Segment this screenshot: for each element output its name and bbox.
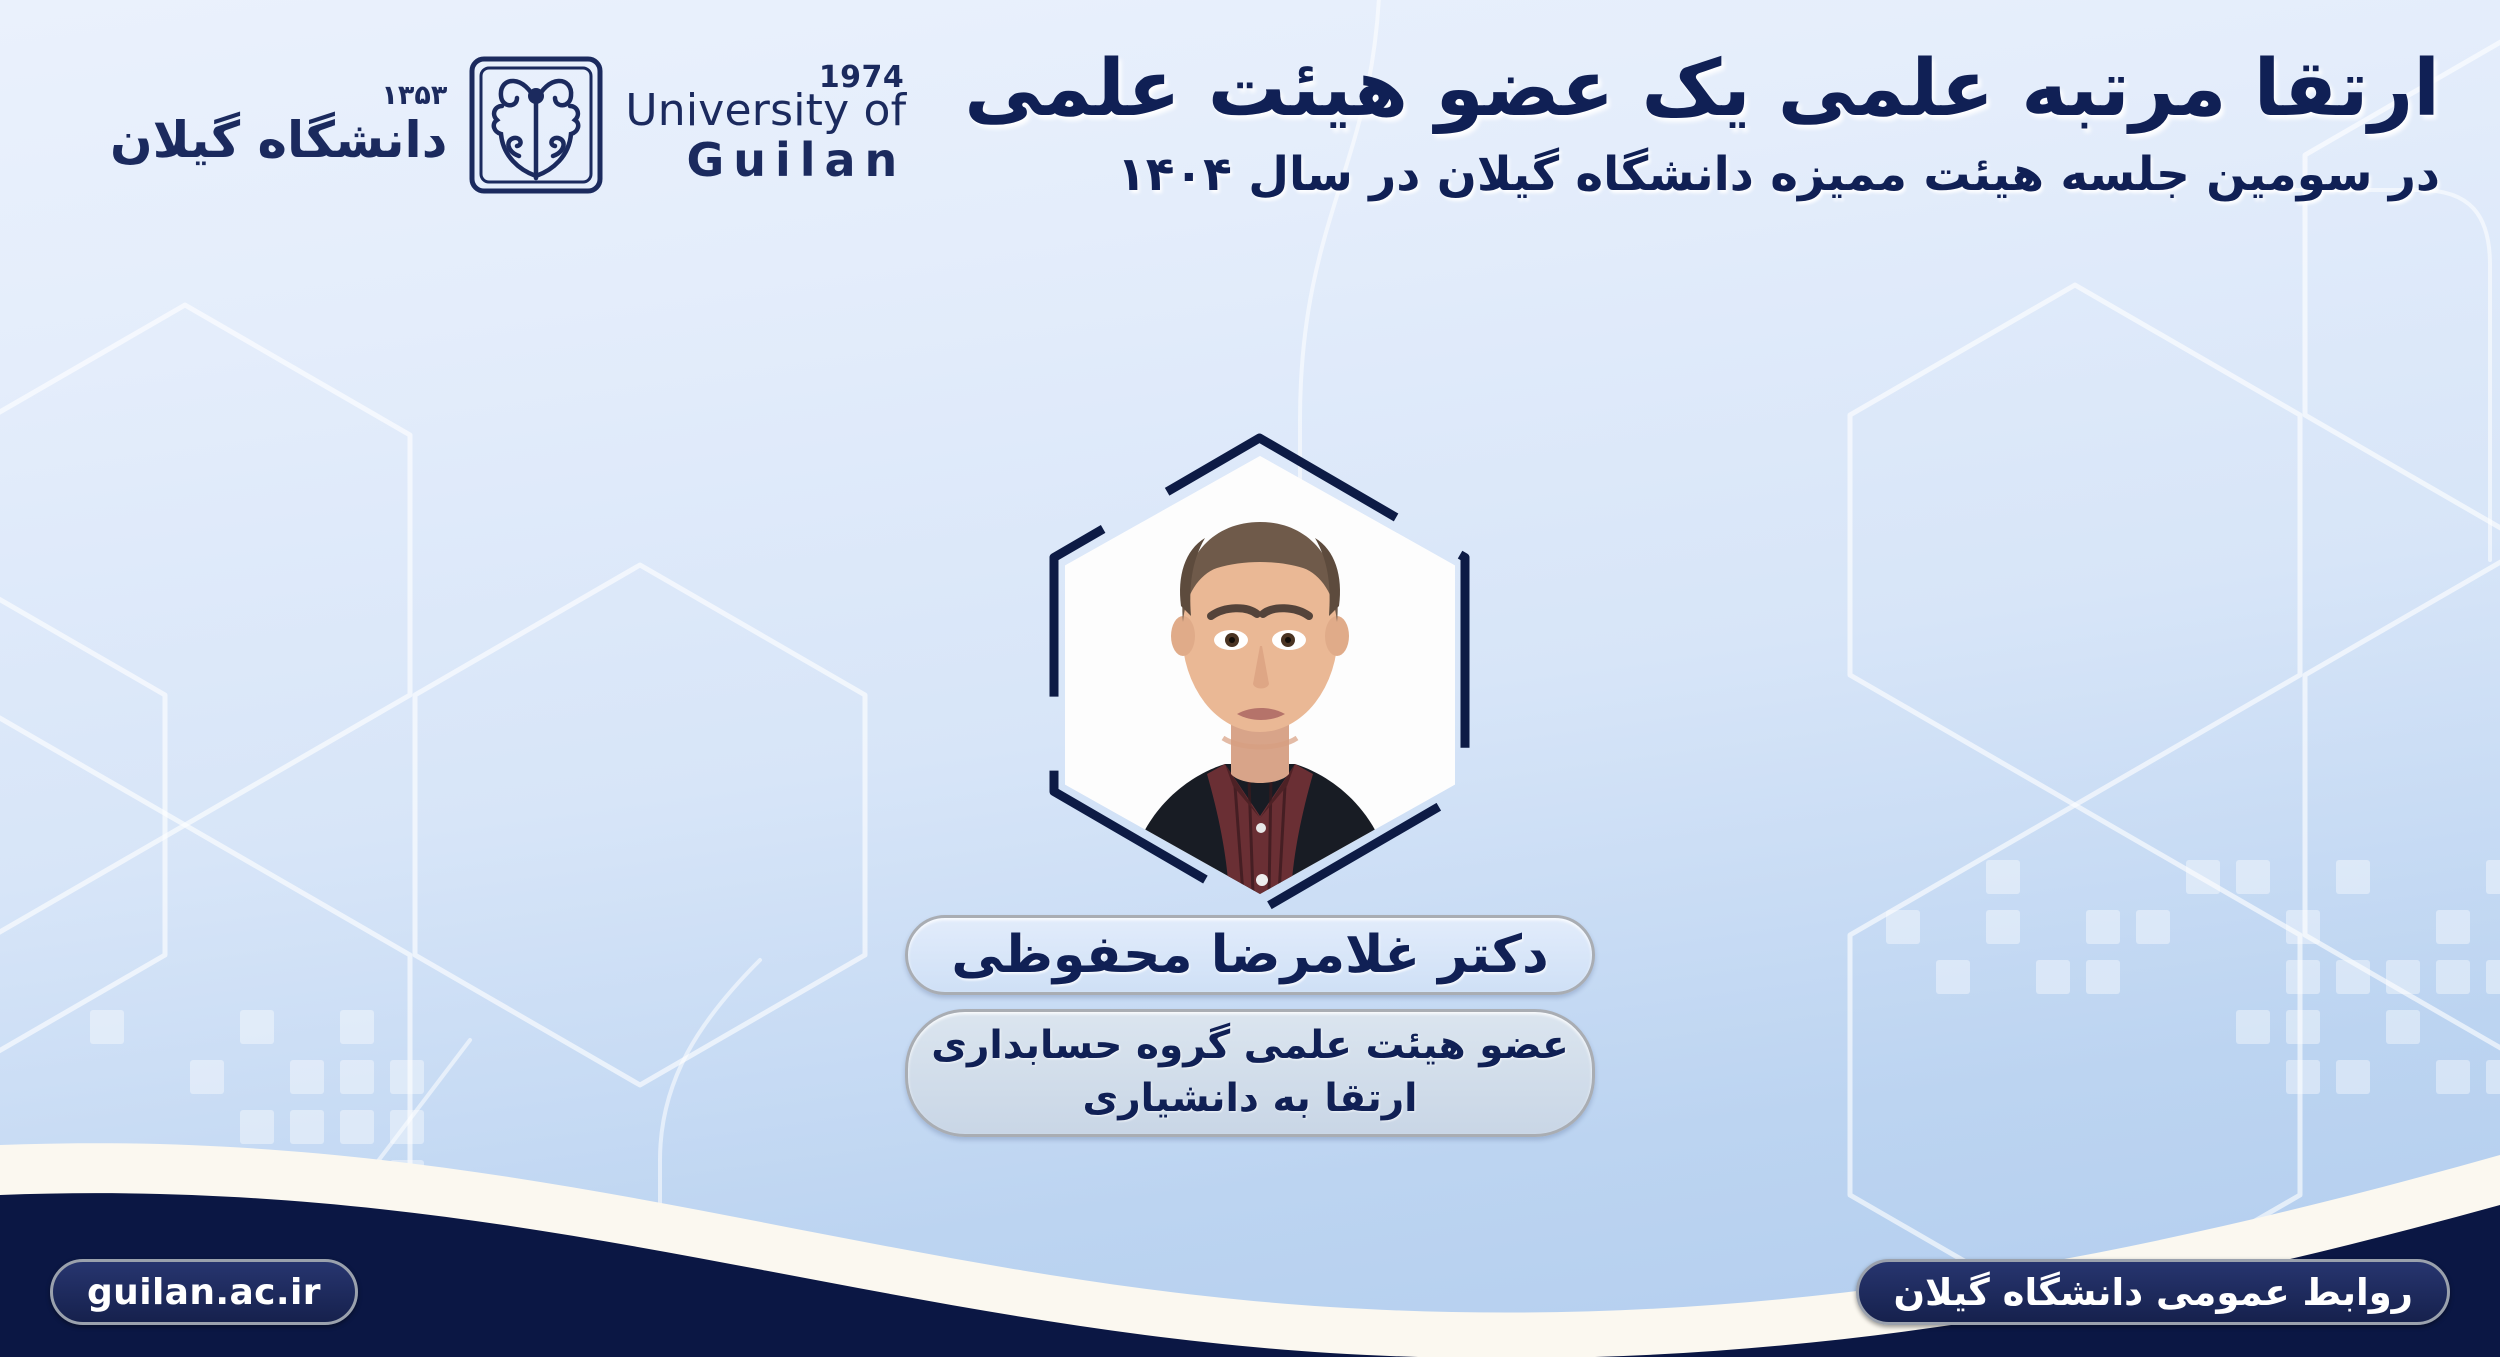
logo-university-line: University of [625,89,906,133]
page-subtitle: در سومین جلسه هیئت ممیزه دانشگاه گیلان د… [964,147,2440,203]
person-name: دکتر غلامرضا محفوظی [951,925,1548,985]
portrait-frame [1043,432,1476,917]
page-title: ارتقا مرتبه علمی یک عضو هیئت علمی [964,46,2440,133]
hexagon-frame-outline-icon [1043,432,1476,917]
website-badge[interactable]: guilan.ac.ir [50,1259,358,1325]
poster-canvas: 1974 University of Guilan [0,0,2500,1357]
public-relations-badge: روابط عمومی دانشگاه گیلان [1856,1259,2450,1325]
logo-year-persian: ۱۳۵۳ [381,82,447,109]
logo-latin-text: 1974 University of Guilan [625,63,906,183]
university-logo: 1974 University of Guilan [110,48,906,198]
logo-name-persian: دانشگاه گیلان [110,115,447,165]
university-emblem-icon [461,48,611,198]
person-name-plate: دکتر غلامرضا محفوظی [905,915,1595,995]
logo-persian-text: ۱۳۵۳ دانشگاه گیلان [110,82,447,165]
title-block: ارتقا مرتبه علمی یک عضو هیئت علمی در سوم… [964,46,2440,204]
public-relations-label: روابط عمومی دانشگاه گیلان [1893,1271,2413,1314]
poster-header: 1974 University of Guilan [0,0,2500,300]
logo-city-line: Guilan [686,137,906,183]
website-url: guilan.ac.ir [87,1272,321,1313]
